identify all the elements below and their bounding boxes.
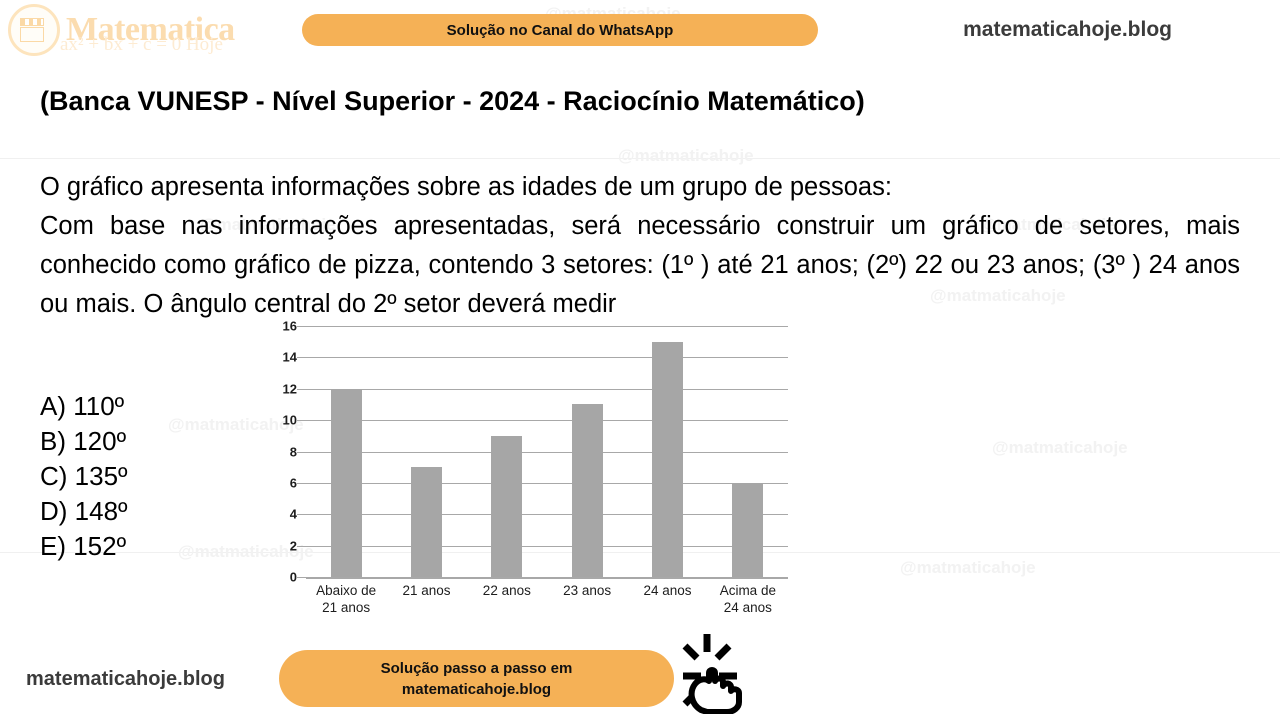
chart-bar (732, 483, 763, 577)
chart-bar (491, 436, 522, 577)
brand-bottom: matematicahoje.blog (26, 668, 225, 691)
age-distribution-bar-chart: 0246810121416 Abaixo de21 anos21 anos22 … (258, 316, 788, 616)
watermark: @matmaticahoje (992, 438, 1128, 458)
chart-y-tick-label: 2 (290, 538, 297, 553)
chart-y-tick-label: 6 (290, 475, 297, 490)
chart-x-tick-label: 23 anos (563, 582, 611, 599)
watermark: @matmaticahoje (900, 558, 1036, 578)
watermark: @matmaticahoje (618, 146, 754, 166)
chart-y-tick-mark (297, 546, 306, 547)
chart-y-tick-label: 4 (290, 507, 297, 522)
chart-y-tick-label: 0 (290, 570, 297, 585)
chart-gridline (306, 389, 788, 390)
chart-x-tick-label: Acima de24 anos (720, 582, 776, 616)
chart-y-tick-mark (297, 357, 306, 358)
chart-y-tick-mark (297, 452, 306, 453)
whatsapp-channel-label: Solução no Canal do WhatsApp (447, 22, 674, 39)
chart-y-tick-label: 10 (283, 413, 297, 428)
chart-plot-area: 0246810121416 (306, 326, 788, 577)
answer-option-d[interactable]: D) 148º (40, 494, 128, 529)
whatsapp-channel-button[interactable]: Solução no Canal do WhatsApp (302, 14, 818, 46)
answer-option-b[interactable]: B) 120º (40, 424, 128, 459)
chart-bar (652, 342, 683, 577)
chart-y-tick-mark (297, 514, 306, 515)
chart-x-tick-label: 24 anos (643, 582, 691, 599)
chart-gridline (306, 514, 788, 515)
chart-y-tick-mark (297, 420, 306, 421)
answer-options: A) 110º B) 120º C) 135º D) 148º E) 152º (40, 389, 128, 564)
logo-subtitle: ax² + bx + c = 0 Hoje (60, 34, 223, 56)
chart-y-tick-label: 14 (283, 350, 297, 365)
brand-top: matematicahoje.blog (963, 18, 1172, 42)
answer-option-e[interactable]: E) 152º (40, 529, 128, 564)
solution-banner-line1: Solução passo a passo em (381, 658, 573, 679)
chart-y-tick-mark (297, 483, 306, 484)
chart-y-tick-mark (297, 326, 306, 327)
answer-option-a[interactable]: A) 110º (40, 389, 128, 424)
question-intro: O gráfico apresenta informações sobre as… (40, 168, 1240, 207)
divider-rule-top (0, 158, 1280, 159)
chart-bar (331, 389, 362, 577)
solution-banner-line2: matematicahoje.blog (402, 679, 551, 700)
chart-bar (572, 404, 603, 577)
question-paragraph: Com base nas informações apresentadas, s… (40, 207, 1240, 324)
chart-x-tick-label: 22 anos (483, 582, 531, 599)
chart-x-tick-label: Abaixo de21 anos (316, 582, 376, 616)
chart-y-tick-mark (297, 389, 306, 390)
chart-gridline (306, 420, 788, 421)
chart-y-tick-mark (297, 577, 306, 578)
chart-gridline (306, 577, 788, 579)
chart-x-tick-label: 21 anos (402, 582, 450, 599)
chart-bar (411, 467, 442, 577)
chart-y-tick-label: 8 (290, 444, 297, 459)
chart-gridline (306, 357, 788, 358)
chart-y-tick-label: 16 (283, 319, 297, 334)
tapping-hand-icon (645, 624, 755, 714)
page-title: (Banca VUNESP - Nível Superior - 2024 - … (40, 86, 865, 117)
shop-front-icon (8, 4, 60, 56)
chart-gridline (306, 326, 788, 327)
answer-option-c[interactable]: C) 135º (40, 459, 128, 494)
question-body: O gráfico apresenta informações sobre as… (40, 168, 1240, 324)
chart-gridline (306, 452, 788, 453)
chart-gridline (306, 483, 788, 484)
chart-x-axis-labels: Abaixo de21 anos21 anos22 anos23 anos24 … (306, 582, 788, 622)
step-by-step-solution-button[interactable]: Solução passo a passo em matematicahoje.… (279, 650, 674, 707)
chart-y-tick-label: 12 (283, 381, 297, 396)
chart-gridline (306, 546, 788, 547)
